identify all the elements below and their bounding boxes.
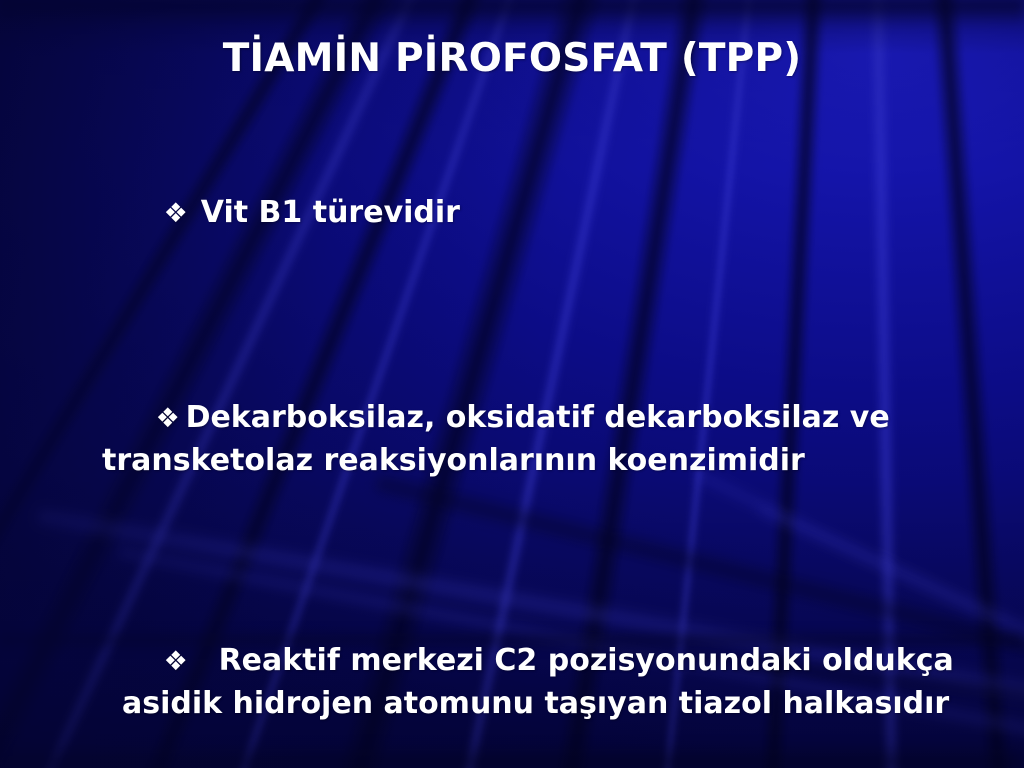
list-item: ❖Vit B1 türevidir — [72, 150, 988, 277]
bullet-text: Reaktif merkezi C2 pozisyonundaki oldukç… — [122, 643, 964, 721]
diamond-bullet-icon: ❖ — [164, 193, 188, 235]
list-item: ❖Dekarboksilaz, oksidatif dekarboksilaz … — [72, 355, 988, 524]
list-item: ❖Reaktif merkezi C2 pozisyonundaki olduk… — [72, 598, 988, 767]
bullet-list: ❖Vit B1 türevidir ❖Dekarboksilaz, oksida… — [72, 150, 988, 767]
bullet-text: Vit B1 türevidir — [201, 195, 460, 230]
bullet-text: Dekarboksilaz, oksidatif dekarboksilaz v… — [102, 400, 900, 478]
presentation-slide: TİAMİN PİROFOSFAT (TPP) ❖Vit B1 türevidi… — [0, 0, 1024, 768]
slide-title: TİAMİN PİROFOSFAT (TPP) — [0, 36, 1024, 81]
slide-content: TİAMİN PİROFOSFAT (TPP) ❖Vit B1 türevidi… — [0, 0, 1024, 768]
